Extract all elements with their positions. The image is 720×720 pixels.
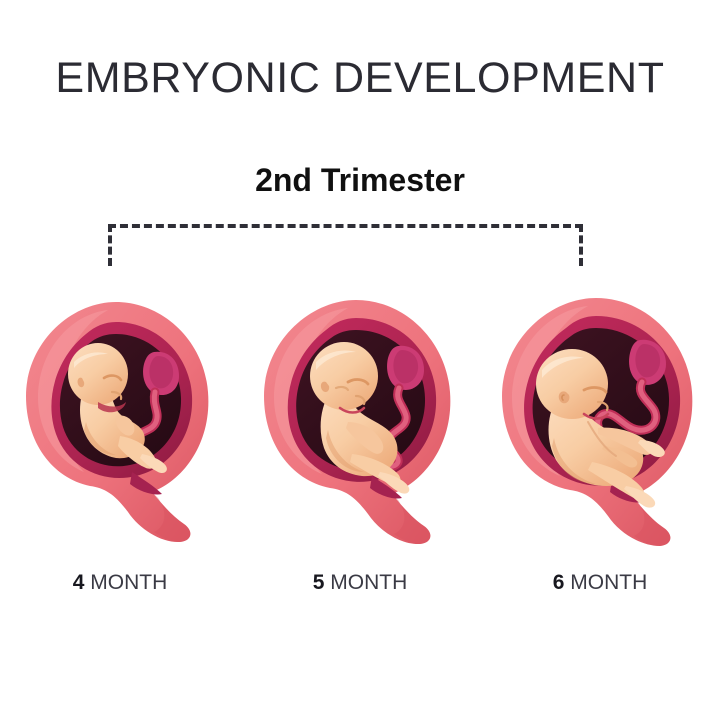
stage-number: 4 [73,571,85,594]
womb-illustration-6-month [492,296,708,546]
stage-unit: MONTH [570,571,647,594]
womb-illustration-4-month [12,296,228,546]
stage-label-5-month: 5 MONTH [240,570,480,596]
stage-number: 6 [553,571,565,594]
stage-label-4-month: 4 MONTH [0,570,240,596]
trimester-span-bracket [108,224,583,266]
stage-number: 5 [313,571,325,594]
stage-4-month[interactable]: 4 MONTH [0,296,240,606]
stage-unit: MONTH [330,571,407,594]
stage-unit: MONTH [90,571,167,594]
stage-label-6-month: 6 MONTH [480,570,720,596]
womb-illustration-5-month [252,296,468,546]
page-title: EMBRYONIC DEVELOPMENT [0,52,720,104]
stage-row: 4 MONTH [0,296,720,606]
stage-5-month[interactable]: 5 MONTH [240,296,480,606]
infographic-poster: EMBRYONIC DEVELOPMENT 2nd Trimester [0,0,720,720]
trimester-subtitle: 2nd Trimester [0,160,720,200]
stage-6-month[interactable]: 6 MONTH [480,296,720,606]
